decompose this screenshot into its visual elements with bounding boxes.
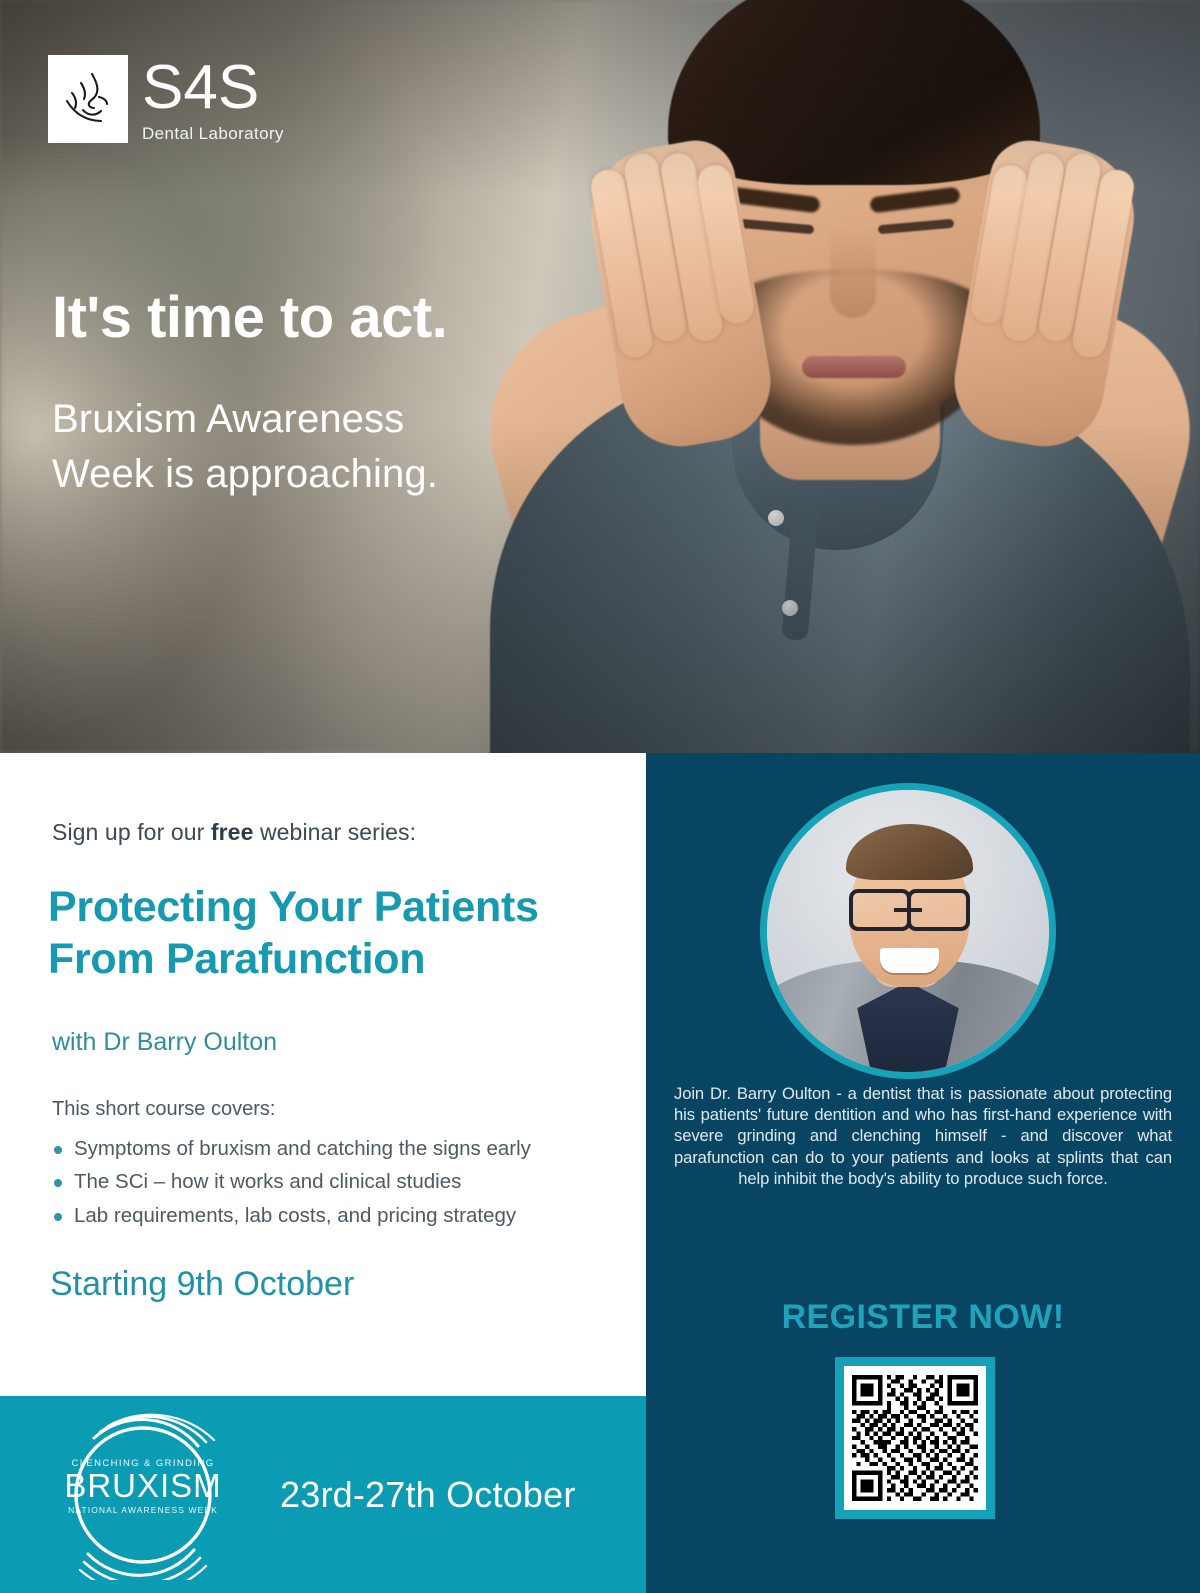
logo-tagline: Dental Laboratory [142,125,284,142]
bruxism-awareness-logo: CLENCHING & GRINDING BRUXISM NATIONAL AW… [48,1410,238,1580]
qr-code[interactable] [835,1357,995,1519]
webinar-title-line1: Protecting Your Patients [48,883,539,931]
hero-subheadline-line1: Bruxism Awareness [52,397,404,441]
signup-suffix: webinar series: [253,819,416,845]
signup-prefix: Sign up for our [52,819,211,845]
speaker-bio: Join Dr. Barry Oulton - a dentist that i… [674,1083,1172,1189]
face-profile-icon [48,55,128,143]
hero-headline: It's time to act. [52,288,447,348]
signup-line: Sign up for our free webinar series: [52,819,416,846]
avatar [760,783,1056,1079]
hero-copy: It's time to act. Bruxism Awareness Week… [52,288,447,501]
logo-wordmark: S4S [142,57,284,119]
register-cta[interactable]: REGISTER NOW! [646,1298,1200,1337]
webinar-title-line2: From Parafunction [48,935,425,983]
awareness-week-band: CLENCHING & GRINDING BRUXISM NATIONAL AW… [0,1396,646,1593]
start-date: Starting 9th October [50,1265,354,1304]
hero-subheadline-line2: Week is approaching. [52,452,438,496]
course-covers-label: This short course covers: [52,1098,275,1121]
signup-emphasis: free [211,819,254,845]
course-topics-list: Symptoms of bruxism and catching the sig… [52,1135,612,1235]
lower-section: Sign up for our free webinar series: Pro… [0,753,1200,1593]
list-item: The SCi – how it works and clinical stud… [52,1168,612,1196]
poster-root: S4S Dental Laboratory It's time to act. … [0,0,1200,1593]
hero-banner: S4S Dental Laboratory It's time to act. … [0,0,1200,753]
list-item: Lab requirements, lab costs, and pricing… [52,1202,612,1230]
qr-code-icon [852,1374,978,1502]
speaker-panel: Join Dr. Barry Oulton - a dentist that i… [646,753,1200,1593]
awareness-week-dates: 23rd-27th October [280,1474,576,1516]
webinar-title: Protecting Your Patients From Parafuncti… [48,881,628,986]
list-item: Symptoms of bruxism and catching the sig… [52,1135,612,1163]
brand-logo[interactable]: S4S Dental Laboratory [48,55,284,143]
bruxism-logo-main-text: BRUXISM [48,1469,238,1504]
webinar-details-column: Sign up for our free webinar series: Pro… [0,753,646,1593]
bruxism-logo-top-text: CLENCHING & GRINDING [48,1458,238,1469]
presenter-name: with Dr Barry Oulton [52,1028,277,1057]
bruxism-logo-bottom-text: NATIONAL AWARENESS WEEK [48,1505,238,1515]
